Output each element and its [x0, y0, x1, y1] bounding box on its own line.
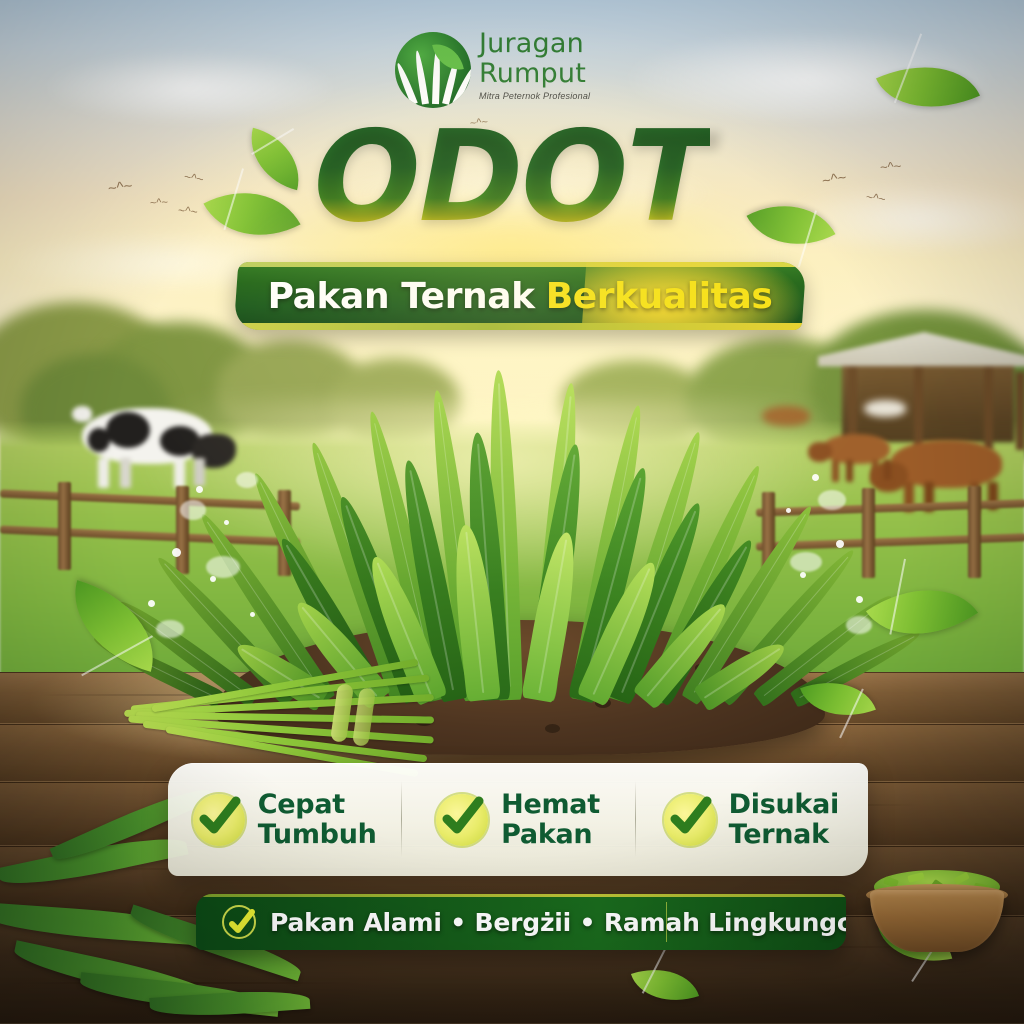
subtitle-text-yellow: Berkualitas	[546, 276, 773, 317]
feature-card-hemat-pakan[interactable]: Hemat Pakan	[401, 763, 634, 876]
bottom-bar-divider	[666, 902, 667, 942]
grass-circle-logo-icon	[395, 32, 471, 108]
brand-logo-text: Juragan Rumput Mitra Peternok Profesiona…	[479, 30, 630, 101]
cloud-shape	[40, 50, 340, 120]
bottom-benefits-text: Pakan Alami • Bergżii • Ramah Lingkungon	[270, 908, 846, 937]
grass-bowl	[862, 868, 1012, 960]
check-mark-icon	[193, 794, 245, 846]
cut-grass-bundle	[120, 676, 450, 766]
feature-card-cepat-tumbuh[interactable]: Cepat Tumbuh	[168, 763, 401, 876]
subtitle-text-white: Pakan Ternak	[268, 276, 535, 317]
bottom-benefits-bar: Pakan Alami • Bergżii • Ramah Lingkungon	[196, 894, 846, 950]
feature-label: Cepat Tumbuh	[258, 790, 377, 850]
poster-canvas: ~^~ ~^~ ~^~ ~^~ ~^~ ~^~ ~^~ ~^~ ~^~	[0, 0, 1024, 1024]
main-title-wrap: ODOT	[0, 118, 1024, 236]
distant-cow	[860, 396, 920, 426]
feature-label: Hemat Pakan	[501, 790, 600, 850]
check-mark-icon	[436, 794, 488, 846]
check-mark-icon	[664, 794, 716, 846]
main-title: ODOT	[314, 118, 711, 236]
brand-name-line2: Rumput	[479, 60, 630, 87]
feature-card-strip: Cepat Tumbuh Hemat Pakan Disukai Ternak	[168, 763, 868, 876]
brand-tagline: Mitra Peternok Profesional	[479, 91, 630, 101]
brand-name-line1: Juragan	[479, 30, 630, 57]
subtitle-banner-text: Pakan Ternak Berkualitas	[236, 262, 804, 330]
feature-card-disukai-ternak[interactable]: Disukai Ternak	[635, 763, 868, 876]
odot-grass-clump	[205, 300, 825, 700]
subtitle-banner-text-layer: Pakan Ternak Berkualitas	[234, 262, 807, 330]
feature-label: Disukai Ternak	[729, 790, 839, 850]
check-mark-icon	[222, 905, 256, 939]
